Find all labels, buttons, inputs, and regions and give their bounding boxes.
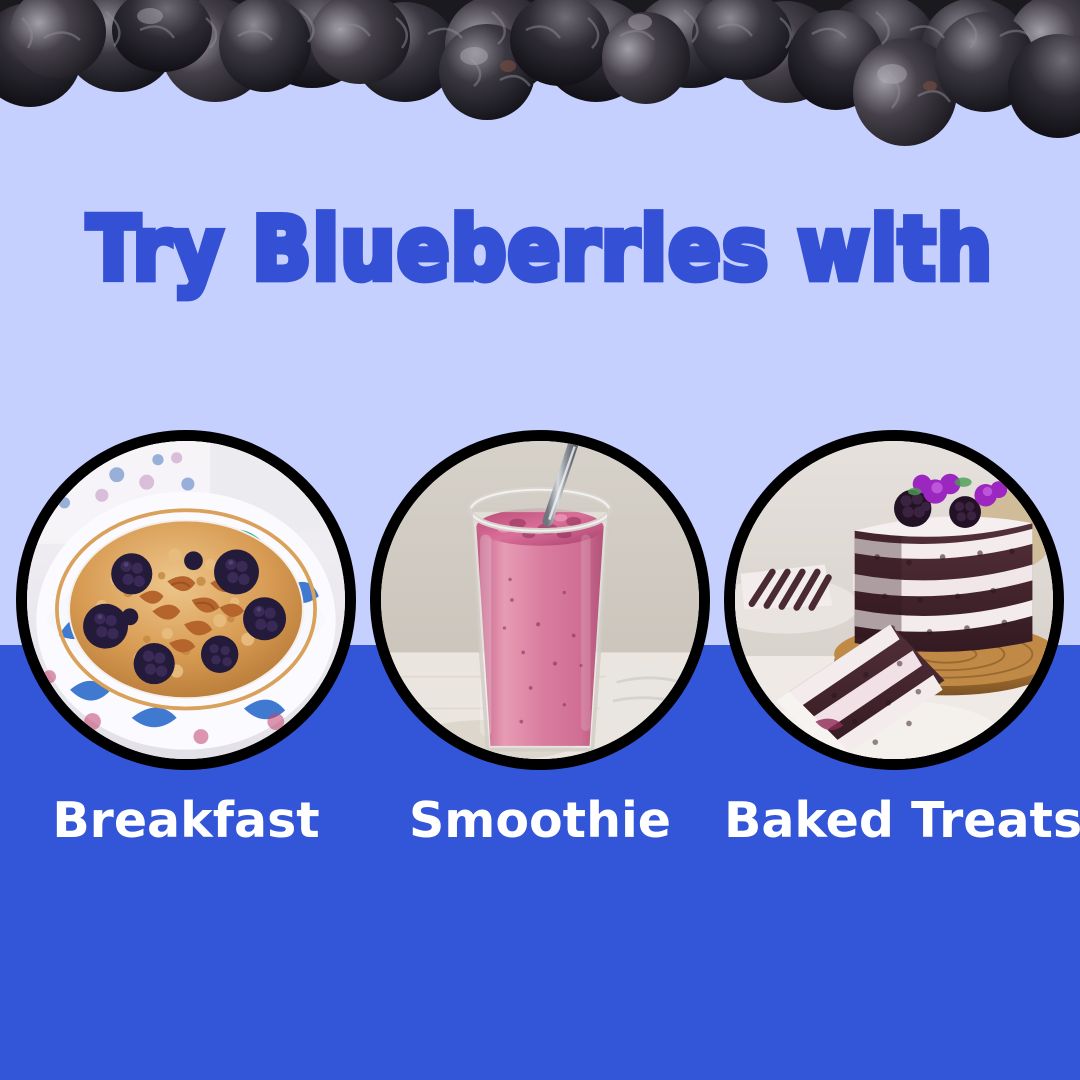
category-circle-baked-treats[interactable]: [724, 430, 1064, 770]
layered-chocolate-berry-cake-photo: [735, 441, 1053, 759]
poster-canvas: Try Blueberries with: [0, 0, 1080, 1080]
category-circle-breakfast[interactable]: [16, 430, 356, 770]
caption-breakfast: Breakfast: [16, 793, 356, 853]
caption-smoothie: Smoothie: [370, 793, 710, 853]
berry-smoothie-glass-photo: [381, 441, 699, 759]
category-circle-row: [0, 430, 1080, 772]
category-caption-row: Breakfast Smoothie Baked Treats: [0, 793, 1080, 853]
caption-baked-treats: Baked Treats: [724, 793, 1064, 853]
granola-berry-bowl-photo: [27, 441, 345, 759]
category-circle-smoothie[interactable]: [370, 430, 710, 770]
dried-blueberries-photo-border: [0, 0, 1080, 150]
page-title: Try Blueberries with: [0, 206, 1080, 293]
